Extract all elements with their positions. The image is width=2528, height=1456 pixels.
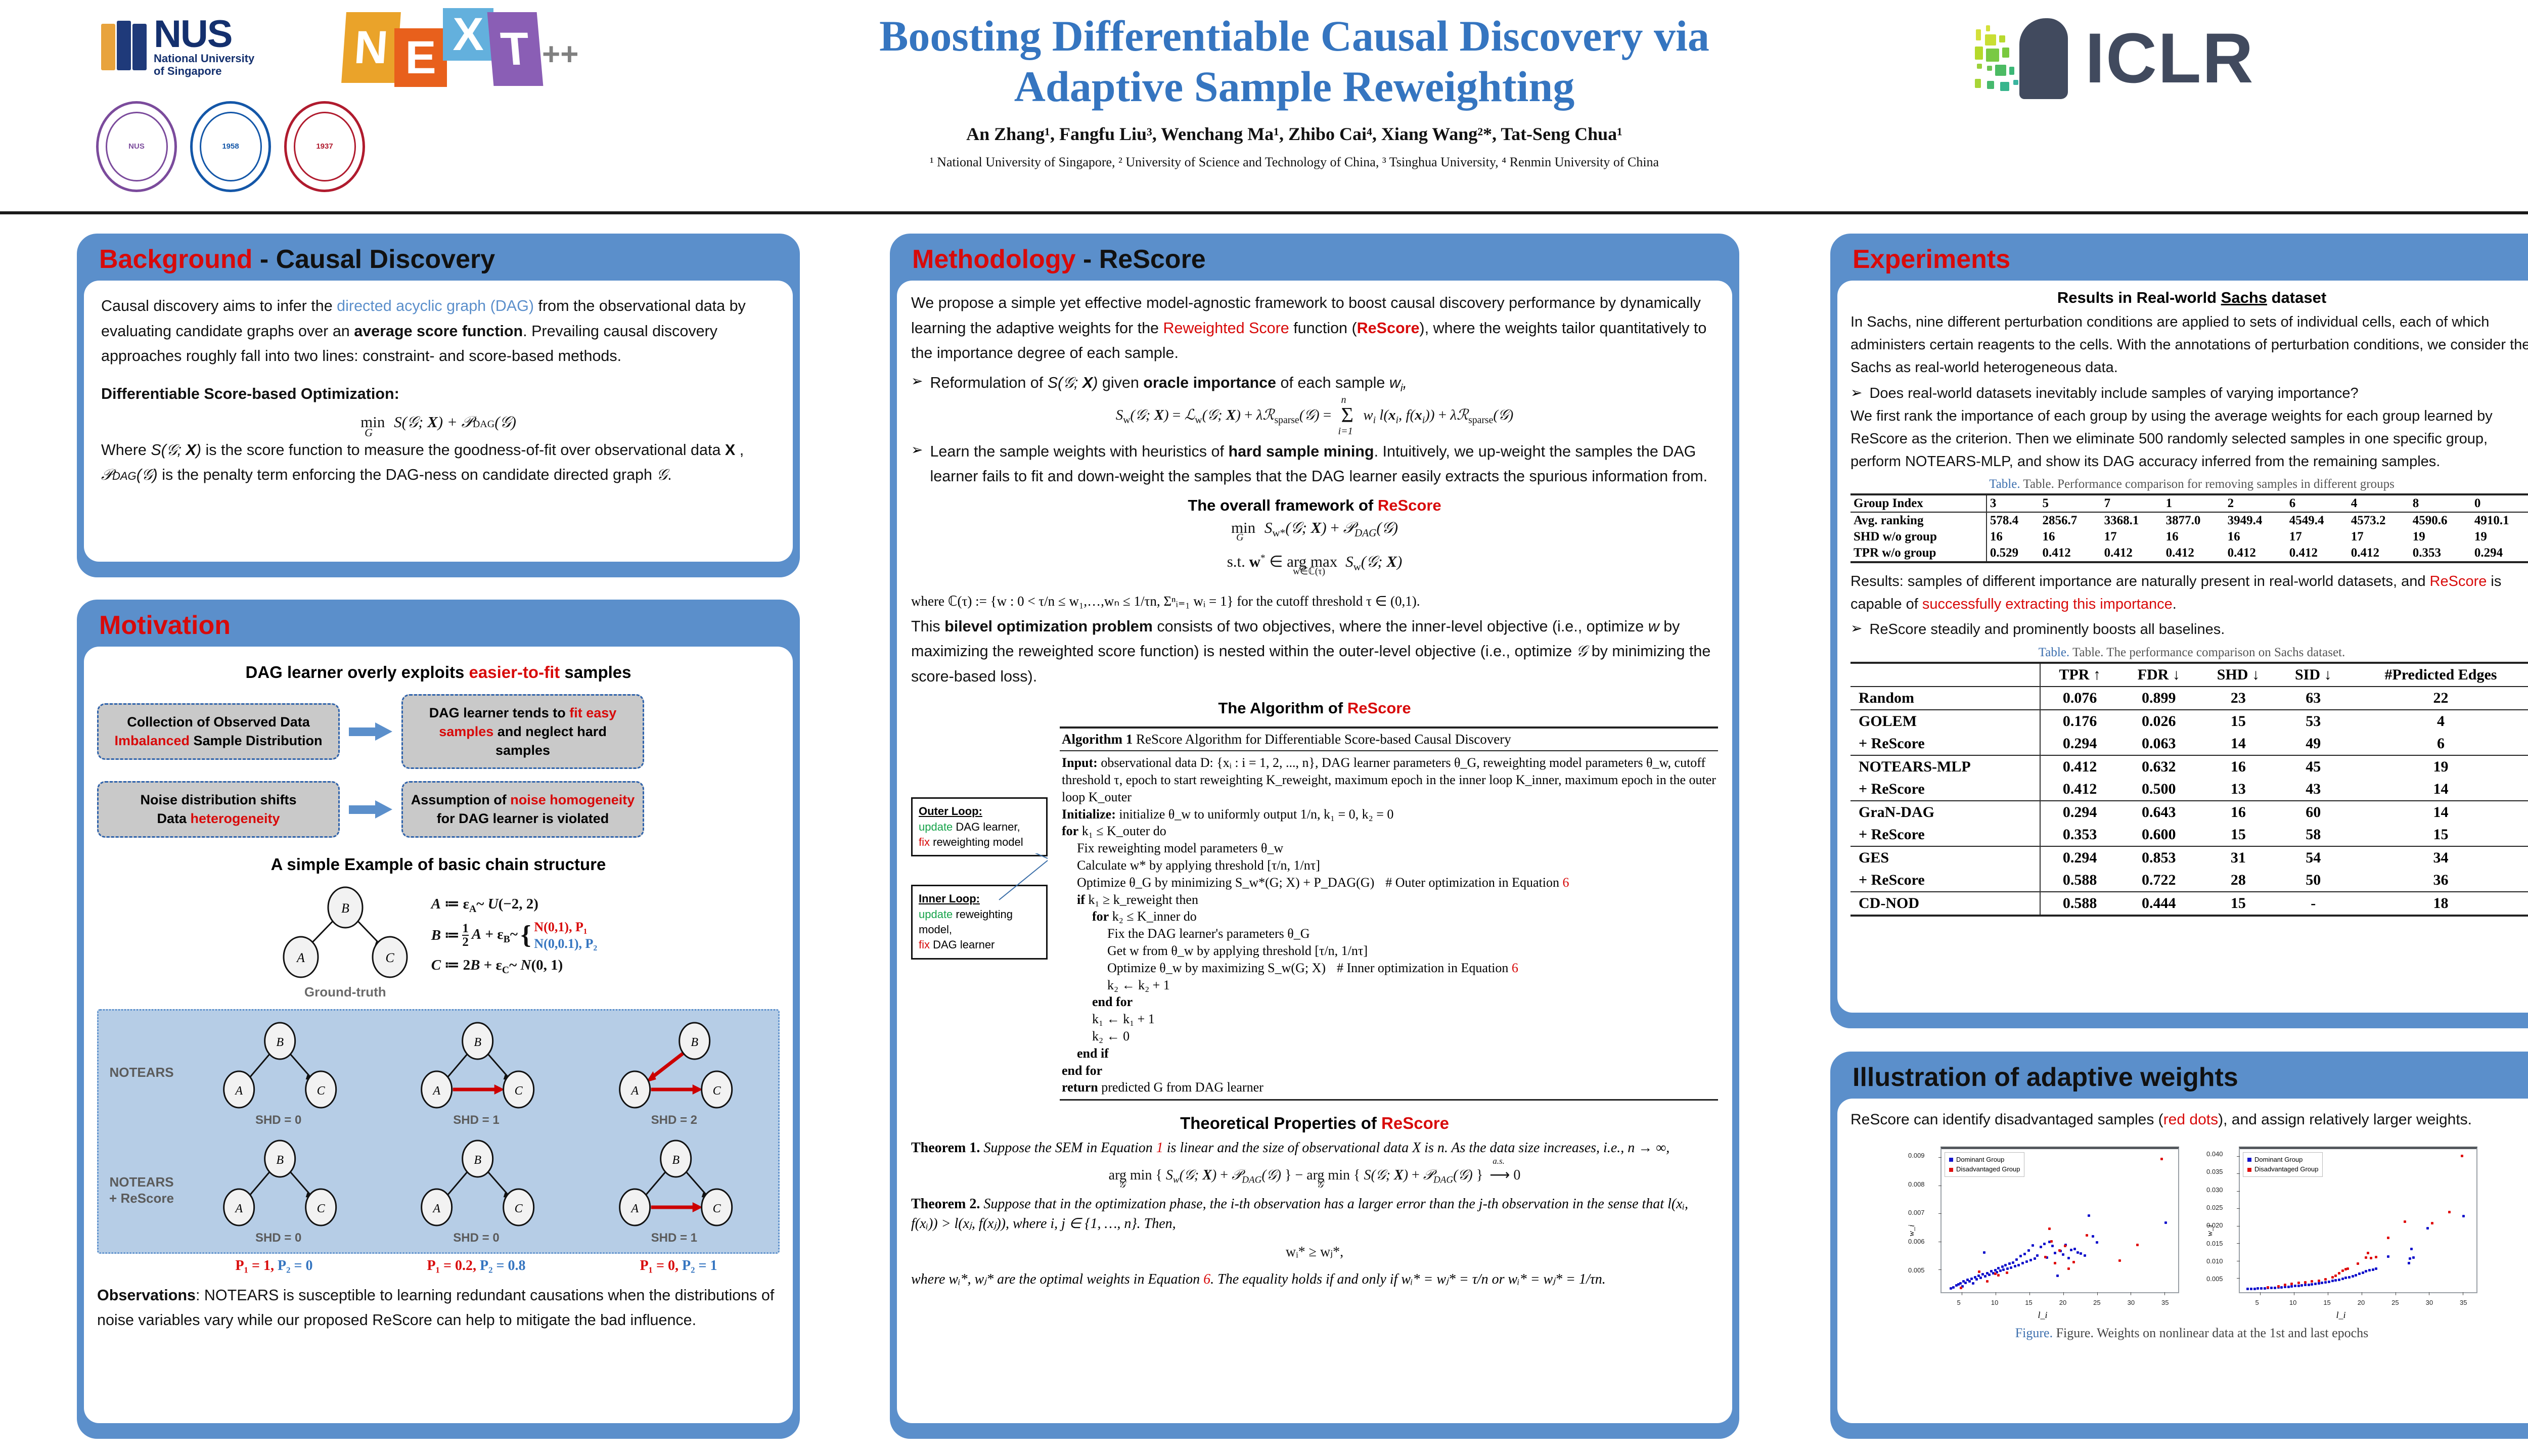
- data-point: [2058, 1249, 2061, 1252]
- data-point: [2032, 1244, 2034, 1247]
- chart-legend: Dominant GroupDisadvantaged Group: [1945, 1152, 2024, 1177]
- alg-cap-rest: ReScore Algorithm for Differentiable Sco…: [1133, 732, 1511, 747]
- motivation-panel: Motivation DAG learner overly exploits e…: [77, 600, 800, 1439]
- table-cell: 14: [2198, 733, 2278, 755]
- x-tick-mark: [2463, 1292, 2463, 1295]
- illustration-body: ReScore can identify disadvantaged sampl…: [1837, 1099, 2528, 1423]
- data-point: [1994, 1272, 1997, 1275]
- header-divider: [0, 211, 2528, 214]
- data-point: [2267, 1286, 2269, 1289]
- table-cell: 58: [2278, 824, 2349, 846]
- data-point: [2001, 1265, 2004, 1268]
- x-tick-label: 25: [2391, 1299, 2399, 1306]
- data-point: [2064, 1245, 2066, 1247]
- illustration-heading-text: Illustration of adaptive weights: [1853, 1063, 2238, 1092]
- data-point: [2287, 1286, 2290, 1288]
- background-paragraph-1: Causal discovery aims to infer the direc…: [101, 294, 776, 369]
- legend-entry: Disadvantaged Group: [2247, 1164, 2318, 1174]
- table-row: Random0.0760.899236322: [1850, 687, 2528, 710]
- svg-text:C: C: [712, 1202, 721, 1215]
- x-tick-mark: [2097, 1292, 2098, 1295]
- observations-text: Observations: NOTEARS is susceptible to …: [97, 1283, 780, 1333]
- x-tick-mark: [2029, 1292, 2030, 1295]
- table-cell: 15: [2198, 892, 2278, 916]
- y-tick-mark: [1938, 1242, 1942, 1242]
- flow-r2-a: Assumption of: [411, 792, 511, 807]
- data-point: [2375, 1256, 2377, 1258]
- data-point: [1960, 1287, 1962, 1289]
- data-point: [2072, 1261, 2075, 1263]
- fw-t-red: ReScore: [1378, 496, 1441, 514]
- data-point: [2073, 1248, 2076, 1250]
- flow-arrow-1-icon: [349, 723, 392, 740]
- data-point: [2084, 1254, 2086, 1257]
- table-cell: 0.412: [2348, 545, 2410, 562]
- x-tick-mark: [2131, 1292, 2131, 1295]
- table-cell: 34: [2349, 846, 2528, 869]
- alg-t-red: ReScore: [1347, 699, 1411, 717]
- svg-text:A: A: [432, 1202, 441, 1215]
- data-point: [2021, 1262, 2024, 1264]
- inner-loop-green: update: [919, 908, 953, 921]
- methodology-body: We propose a simple yet effective model-…: [897, 281, 1732, 1423]
- data-point: [1997, 1267, 2000, 1269]
- table-cell: 4: [2349, 710, 2528, 733]
- data-point: [2086, 1234, 2088, 1237]
- data-point: [2362, 1271, 2364, 1274]
- column-header: TPR ↑: [2040, 663, 2119, 687]
- p-value-labels: P₁ = 1, P₂ = 0 P₁ = 0.2, P₂ = 0.8 P₁ = 0…: [97, 1258, 780, 1274]
- scatter-chart: w_il_iDominant GroupDisadvantaged Group0…: [2199, 1140, 2482, 1322]
- data-point: [2409, 1257, 2411, 1260]
- data-point: [2297, 1282, 2300, 1284]
- sachs-table-caption: Table. Table. The performance comparison…: [1850, 646, 2528, 660]
- x-tick-mark: [2260, 1292, 2261, 1295]
- table-cell: 6: [2349, 733, 2528, 755]
- row-label: SHD w/o group: [1850, 529, 1987, 545]
- svg-text:B: B: [474, 1154, 482, 1167]
- table-cell: 0.632: [2119, 755, 2198, 778]
- theory-title: Theoretical Properties of ReScore: [911, 1114, 1718, 1133]
- data-point: [2311, 1283, 2313, 1286]
- svg-text:A: A: [296, 950, 305, 965]
- experiments-paragraph-1: In Sachs, nine different perturbation co…: [1850, 311, 2528, 379]
- outer-loop-red: fix: [919, 836, 930, 848]
- table-cell: 16: [2198, 801, 2278, 824]
- background-panel: Background - Causal Discovery Causal dis…: [77, 234, 800, 577]
- methodology-equation-main: Sw(𝒢; X) = ℒw(𝒢; X) + λℛsparse(𝒢) = n Σ …: [911, 406, 1718, 426]
- data-point: [2260, 1287, 2263, 1290]
- fw-eq2-sub: w∈ℂ(τ): [1293, 566, 1325, 577]
- framework-equation-2: s.t. w* ∈ arg maxw∈ℂ(τ) Sw(𝒢; X): [911, 553, 1718, 573]
- y-tick-label: 0.035: [2206, 1168, 2223, 1175]
- algorithm-line: Fix reweighting model parameters θ_w: [1062, 840, 1716, 857]
- algorithm-line: Initialize: initialize θ_w to uniformly …: [1062, 806, 1716, 823]
- table-cell: 0.529: [1987, 545, 2040, 562]
- table-row: Avg. ranking578.42856.73368.13877.03949.…: [1850, 512, 2528, 529]
- next-letter-e: E: [394, 28, 447, 87]
- alg-t-a: The Algorithm of: [1218, 699, 1347, 717]
- background-body: Causal discovery aims to infer the direc…: [84, 281, 793, 562]
- algorithm-line: Input: observational data D: {xᵢ : i = 1…: [1062, 754, 1716, 805]
- background-subheading: Differentiable Score-based Optimization:: [101, 382, 776, 406]
- th2-label: Theorem 2.: [911, 1196, 980, 1212]
- dag-graph-3-icon: B A C: [575, 1018, 773, 1114]
- theorem-1: Theorem 1. Suppose the SEM in Equation 1…: [911, 1138, 1718, 1158]
- res-red2: successfully extracting this importance: [1922, 596, 2173, 612]
- table-cell: 63: [2278, 687, 2349, 710]
- table-cell: 8: [2410, 494, 2471, 512]
- table-cell: 49: [2278, 733, 2349, 755]
- next-letter-n: N: [341, 12, 401, 83]
- row-label: TPR w/o group: [1850, 545, 1987, 562]
- algorithm-line: Optimize θ_G by minimizing S_w*(G; X) + …: [1062, 874, 1716, 891]
- row-label: GES: [1850, 846, 2040, 869]
- table-cell: 0.412: [2225, 545, 2286, 562]
- table-cell: 0.412: [2040, 778, 2119, 801]
- data-point: [2338, 1279, 2340, 1281]
- y-tick-label: 0.005: [2206, 1275, 2223, 1283]
- y-tick-mark: [1938, 1269, 1942, 1270]
- table-row: + ReScore0.2940.06314496: [1850, 733, 2528, 755]
- svg-text:A: A: [234, 1084, 243, 1098]
- data-point: [2321, 1282, 2323, 1284]
- theorem-2-equation: wᵢ* ≥ wⱼ*,: [911, 1243, 1718, 1260]
- data-point: [2029, 1259, 2032, 1261]
- inner-loop-l2: DAG learner: [930, 938, 995, 951]
- dag-graph-6-icon: B A C: [575, 1135, 773, 1232]
- data-point: [2012, 1261, 2014, 1264]
- algorithm-line: for k₂ ≤ K_inner do: [1062, 908, 1716, 925]
- methodology-bullet-1: ➢ Reformulation of S(𝒢; X) given oracle …: [911, 371, 1718, 397]
- experiments-results-text: Results: samples of different importance…: [1850, 570, 2528, 616]
- svg-text:C: C: [317, 1202, 326, 1215]
- ill-a: ReScore can identify disadvantaged sampl…: [1850, 1111, 2163, 1128]
- university-seals: NUS 1958 1937: [96, 91, 450, 202]
- dag-graph-4-icon: B A C: [179, 1135, 377, 1232]
- y-tick-mark: [2237, 1226, 2240, 1226]
- x-tick-label: 30: [2128, 1299, 2135, 1306]
- table-row: + ReScore0.4120.500134314: [1850, 778, 2528, 801]
- table-cell: 15: [2349, 824, 2528, 846]
- m-p1b: function (: [1289, 320, 1357, 337]
- table-cell: 50: [2278, 869, 2349, 892]
- legend-entry: Disadvantaged Group: [1949, 1164, 2020, 1174]
- svg-text:B: B: [474, 1036, 482, 1049]
- shd-label-1: SHD = 0: [179, 1113, 377, 1127]
- chain-example-title: A simple Example of basic chain structur…: [97, 855, 780, 874]
- flow-r1-a: DAG learner tends to: [429, 705, 570, 720]
- table-cell: 53: [2278, 710, 2349, 733]
- table-cell: 3: [1987, 494, 2040, 512]
- data-point: [2408, 1262, 2410, 1264]
- table-cell: 0.294: [2040, 801, 2119, 824]
- data-point: [1968, 1280, 1971, 1283]
- x-axis-label: l_i: [1901, 1310, 2184, 1321]
- data-point: [2092, 1235, 2094, 1238]
- bilevel-paragraph: This bilevel optimization problem consis…: [911, 614, 1718, 689]
- bl-m1: w: [1648, 618, 1659, 635]
- data-point: [2054, 1262, 2056, 1264]
- algorithm-line: return predicted G from DAG learner: [1062, 1079, 1716, 1096]
- y-axis-label: w_i: [1908, 1224, 1917, 1236]
- table-cell: 16: [2198, 755, 2278, 778]
- svg-text:A: A: [630, 1202, 639, 1215]
- table-cell: 15: [2198, 710, 2278, 733]
- data-point: [1964, 1282, 1967, 1284]
- data-point: [2253, 1288, 2256, 1290]
- row-label: + ReScore: [1850, 869, 2040, 892]
- data-point: [2006, 1271, 2008, 1274]
- dag-cell-6: B A C SHD = 1: [575, 1135, 773, 1245]
- th1-label: Theorem 1.: [911, 1140, 980, 1156]
- algorithm-line: Get w from θ_w by applying threshold [τ/…: [1062, 942, 1716, 960]
- data-point: [2080, 1252, 2082, 1255]
- data-point: [2338, 1272, 2340, 1275]
- algorithm-line: k₂ ← k₂ + 1: [1062, 977, 1716, 994]
- table-cell: 6: [2286, 494, 2348, 512]
- svg-text:A: A: [630, 1084, 639, 1098]
- data-point: [2136, 1244, 2139, 1246]
- nus-shield-icon: [101, 21, 148, 73]
- threshold-definition: where ℂ(τ) := {w : 0 < τ/n ≤ w₁,…,wₙ ≤ 1…: [911, 594, 1718, 609]
- data-point: [2043, 1243, 2046, 1245]
- data-point: [2431, 1222, 2433, 1224]
- background-heading-rest: - Causal Discovery: [252, 245, 495, 274]
- th-t-red: ReScore: [1381, 1114, 1449, 1132]
- res-c: .: [2173, 596, 2177, 612]
- data-point: [2284, 1284, 2286, 1286]
- exp-sub-u: Sachs: [2221, 289, 2267, 306]
- data-point: [1959, 1282, 1962, 1285]
- y-tick-mark: [2237, 1208, 2240, 1209]
- m-b1b: given: [1098, 374, 1143, 391]
- data-point: [2025, 1260, 2028, 1263]
- next-lab-logo: N E X T ++: [344, 7, 561, 88]
- algorithm-line: k₁ ← k₁ + 1: [1062, 1011, 1716, 1028]
- motivation-heading: Motivation: [77, 600, 800, 647]
- next-plus-plus: ++: [542, 36, 578, 72]
- ill-b: ), and assign relatively larger weights.: [2218, 1111, 2472, 1128]
- chart-legend: Dominant GroupDisadvantaged Group: [2243, 1152, 2323, 1177]
- data-point: [2448, 1211, 2451, 1213]
- flow-l2-red: heterogeneity: [190, 811, 280, 826]
- data-point: [2050, 1240, 2053, 1243]
- data-point: [2023, 1253, 2026, 1255]
- loop-arrows: [911, 856, 1053, 885]
- x-tick-label: 15: [2025, 1299, 2032, 1306]
- observations-label: Observations: [97, 1287, 196, 1304]
- data-point: [2062, 1253, 2064, 1256]
- table-cell: 0.353: [2040, 824, 2119, 846]
- bl-b: consists of two objectives, where the in…: [1153, 618, 1648, 635]
- res-a: Results: samples of different importance…: [1850, 573, 2430, 589]
- y-tick-label: 0.025: [2206, 1204, 2223, 1211]
- dag-results-grid: NOTEARS B A C SHD = 0: [97, 1009, 780, 1254]
- x-tick-mark: [2396, 1292, 2396, 1295]
- y-tick-mark: [2237, 1261, 2240, 1261]
- p-label-1: P₁ = 1, P₂ = 0: [173, 1258, 375, 1274]
- m-b1a: Reformulation of: [930, 374, 1047, 391]
- table-row: GOLEM0.1760.02615534: [1850, 710, 2528, 733]
- outer-loop-green: update: [919, 821, 953, 833]
- sachs-subtitle: Results in Real-world Sachs dataset: [1850, 289, 2528, 307]
- data-point: [2346, 1267, 2349, 1270]
- mot-t-a: DAG learner overly exploits: [246, 663, 469, 681]
- m-b2a: Learn the sample weights with heuristics…: [930, 443, 1228, 460]
- data-point: [2334, 1279, 2337, 1282]
- data-point: [2280, 1286, 2283, 1289]
- illustration-text: ReScore can identify disadvantaged sampl…: [1850, 1108, 2528, 1132]
- iclr-head-icon: [1972, 15, 2073, 101]
- flow-box-left-1: Collection of Observed Data Imbalanced S…: [97, 703, 340, 759]
- flow-r2-red: noise homogeneity: [510, 792, 635, 807]
- row-label: GraN-DAG: [1850, 801, 2040, 824]
- x-tick-mark: [2362, 1292, 2362, 1295]
- tbl1-cap-text: Table. Performance comparison for removi…: [2023, 477, 2394, 491]
- data-point: [2088, 1214, 2090, 1217]
- table-cell: 19: [2471, 529, 2528, 545]
- data-point: [2367, 1252, 2369, 1254]
- group-performance-table: Group Index357126480Avg. ranking578.4285…: [1850, 493, 2528, 563]
- flow-r1-b: and neglect hard samples: [493, 724, 607, 758]
- illustration-heading: Illustration of adaptive weights: [1830, 1052, 2528, 1099]
- data-point: [2015, 1258, 2018, 1261]
- experiments-paragraph-2: We first rank the importance of each gro…: [1850, 405, 2528, 473]
- table-row: GES0.2940.853315434: [1850, 846, 2528, 869]
- algorithm-area: Outer Loop: update DAG learner, fix rewe…: [911, 721, 1718, 1101]
- table-cell: 0.412: [2286, 545, 2348, 562]
- table-cell: 5: [2040, 494, 2101, 512]
- bullet-arrow-icon-1: ➢: [911, 371, 923, 392]
- data-point: [2365, 1256, 2367, 1259]
- data-point: [2334, 1275, 2337, 1277]
- table-cell: 16: [2225, 529, 2286, 545]
- x-tick-label: 35: [2460, 1299, 2467, 1306]
- data-point: [2067, 1267, 2070, 1270]
- svg-text:C: C: [317, 1084, 326, 1098]
- table-cell: 13: [2198, 778, 2278, 801]
- sem-p2: N(0,0.1), P₂: [534, 935, 597, 952]
- outer-loop-title: Outer Loop:: [919, 804, 1040, 819]
- row-label: Random: [1850, 687, 2040, 710]
- data-point: [2067, 1257, 2070, 1259]
- algorithm-title: The Algorithm of ReScore: [911, 699, 1718, 717]
- th1-red: 1: [1156, 1140, 1163, 1156]
- data-point: [2070, 1249, 2072, 1251]
- table-cell: 36: [2349, 869, 2528, 892]
- table-cell: 4590.6: [2410, 512, 2471, 529]
- flow-l2-line1: Noise distribution shifts: [106, 791, 331, 809]
- x-tick-label: 20: [2358, 1299, 2365, 1306]
- mot-t-red: easier-to-fit: [469, 663, 560, 681]
- m-b1c: of each sample: [1276, 374, 1389, 391]
- svg-text:B: B: [672, 1154, 680, 1167]
- table-cell: 19: [2349, 755, 2528, 778]
- data-point: [2034, 1257, 2036, 1260]
- data-point: [1972, 1282, 1974, 1285]
- x-tick-label: 10: [1991, 1299, 1998, 1306]
- observations-body: : NOTEARS is susceptible to learning red…: [97, 1287, 774, 1329]
- legend-entry: Dominant Group: [2247, 1155, 2318, 1165]
- data-point: [2076, 1251, 2079, 1254]
- p-label-3: P₁ = 0, P₂ = 1: [577, 1258, 780, 1274]
- y-tick-mark: [2237, 1278, 2240, 1279]
- table-cell: 28: [2198, 869, 2278, 892]
- data-point: [2304, 1281, 2307, 1284]
- sem-equations: A ≔ εA~ U(−2, 2) B ≔ 12 A + εB~ { N(0,1)…: [431, 886, 597, 978]
- table-cell: 3949.4: [2225, 512, 2286, 529]
- data-point: [1981, 1273, 1984, 1276]
- tbl2-cap-text: Table. The performance comparison on Sac…: [2072, 646, 2345, 659]
- svg-text:A: A: [234, 1202, 243, 1215]
- framework-title: The overall framework of ReScore: [911, 496, 1718, 515]
- data-point: [1986, 1280, 1989, 1283]
- column-header: FDR ↓: [2119, 663, 2198, 687]
- motivation-heading-accent: Motivation: [99, 611, 231, 640]
- data-point: [2365, 1270, 2367, 1272]
- data-point: [2352, 1275, 2354, 1278]
- data-point: [2008, 1262, 2011, 1265]
- th2-c: . The equality holds if and only if wᵢ* …: [1210, 1271, 1606, 1287]
- plot-area: Dominant GroupDisadvantaged Group: [1940, 1147, 2179, 1293]
- table-cell: 0.722: [2119, 869, 2198, 892]
- shd-label-5: SHD = 0: [377, 1231, 575, 1245]
- th2-red: 6: [1203, 1271, 1210, 1287]
- row-label: + ReScore: [1850, 733, 2040, 755]
- data-point: [2014, 1265, 2016, 1267]
- data-point: [2027, 1249, 2030, 1252]
- table-cell: 1: [2163, 494, 2225, 512]
- row-label: GOLEM: [1850, 710, 2040, 733]
- bl-a: This: [911, 618, 944, 635]
- x-tick-mark: [2063, 1292, 2064, 1295]
- theorem-2-note: where wᵢ*, wⱼ* are the optimal weights i…: [911, 1269, 1718, 1290]
- flow-l1-line1: Collection of Observed Data: [106, 713, 331, 732]
- y-tick-mark: [2237, 1191, 2240, 1192]
- methodology-bullet-2: ➢ Learn the sample weights with heuristi…: [911, 439, 1718, 489]
- table-row: + ReScore0.3530.600155815: [1850, 824, 2528, 846]
- table-row: Group Index357126480: [1850, 494, 2528, 512]
- iclr-logo: ICLR: [1972, 10, 2528, 106]
- dag-row-rescore: NOTEARS+ ReScore B A C SHD = 0: [104, 1135, 773, 1245]
- background-heading: Background - Causal Discovery: [77, 234, 800, 281]
- experiments-heading: Experiments: [1830, 234, 2528, 281]
- table-cell: 0.588: [2040, 869, 2119, 892]
- data-point: [2270, 1287, 2273, 1289]
- algorithm-line: Fix the DAG learner's parameters θ_G: [1062, 925, 1716, 942]
- table-cell: 31: [2198, 846, 2278, 869]
- table-cell: 17: [2286, 529, 2348, 545]
- y-tick-label: 0.005: [1908, 1266, 1925, 1274]
- res-red1: ReScore: [2430, 573, 2487, 589]
- flow-box-right-1: DAG learner tends to fit easy samples an…: [401, 694, 644, 769]
- exp-sub-a: Results in Real-world: [2057, 289, 2221, 306]
- dag-cell-5: B A C SHD = 0: [377, 1135, 575, 1245]
- algorithm-box: Algorithm 1 ReScore Algorithm for Differ…: [1060, 721, 1718, 1101]
- y-tick-label: 0.007: [1908, 1209, 1925, 1216]
- legend-entry: Dominant Group: [1949, 1155, 2020, 1165]
- experiments-bullet-2: ➢ ReScore steadily and prominently boost…: [1850, 618, 2528, 642]
- data-point: [2358, 1272, 2361, 1275]
- data-point: [2250, 1288, 2252, 1290]
- y-tick-label: 0.006: [1908, 1238, 1925, 1245]
- flow-arrow-2-icon: [349, 801, 392, 818]
- data-point: [1978, 1270, 1980, 1273]
- row-label: + ReScore: [1850, 778, 2040, 801]
- loop-arrow-icon: [987, 853, 1128, 914]
- table-cell: 4: [2348, 494, 2410, 512]
